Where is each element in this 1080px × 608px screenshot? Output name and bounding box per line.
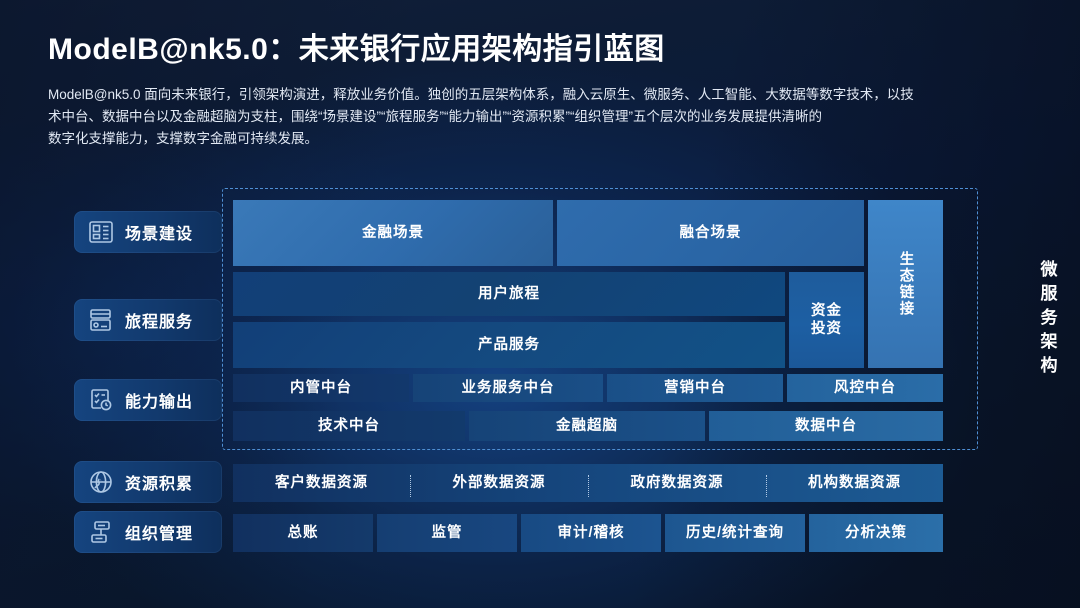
tile-tech-midplatform[interactable]: 技术中台	[233, 411, 465, 441]
sidebar-item-label: 能力输出	[125, 388, 193, 412]
tile-label: 总账	[288, 524, 319, 542]
tile-user-journey[interactable]: 用户旅程	[233, 272, 785, 316]
tile-label: 客户数据资源	[275, 474, 368, 492]
sidebar-item-label: 资源积累	[125, 470, 193, 494]
tile-label: 技术中台	[318, 417, 380, 435]
tile-label: 内管中台	[290, 379, 352, 397]
page-title: ModelB@nk5.0：未来银行应用架构指引蓝图	[48, 24, 665, 68]
intro-line-2: 术中台、数据中台以及金融超脑为支柱，围绕“场景建设”“旅程服务”“能力输出”“资…	[48, 106, 1020, 128]
card-stack-icon	[86, 305, 116, 335]
tile-label: 政府数据资源	[631, 474, 724, 492]
tile-financial-brain[interactable]: 金融超脑	[469, 411, 705, 441]
tile-audit-inspection[interactable]: 审计/稽核	[521, 514, 661, 552]
tile-marketing-midplatform[interactable]: 营销中台	[607, 374, 783, 402]
tile-label: 审计/稽核	[557, 524, 624, 542]
tile-external-data-resource[interactable]: 外部数据资源	[410, 464, 588, 502]
tile-label: 金融场景	[362, 224, 424, 242]
tile-label: 用户旅程	[478, 285, 540, 303]
tile-label: 机构数据资源	[808, 474, 901, 492]
tile-data-midplatform[interactable]: 数据中台	[709, 411, 943, 441]
tile-history-statistics-query[interactable]: 历史/统计查询	[665, 514, 805, 552]
tile-ecosystem-link[interactable]: 生态链接	[868, 200, 943, 368]
microservice-architecture-label: 微服务架构	[1032, 214, 1062, 426]
sidebar-item-label: 场景建设	[125, 220, 193, 244]
tile-label: 营销中台	[664, 379, 726, 397]
sidebar-item-label: 组织管理	[125, 520, 193, 544]
tile-financial-scene[interactable]: 金融场景	[233, 200, 553, 266]
tile-label-line1: 资金	[811, 303, 842, 319]
tile-label: 外部数据资源	[453, 474, 546, 492]
tile-label: 风控中台	[834, 379, 896, 397]
org-chart-icon	[86, 517, 116, 547]
tile-risk-midplatform[interactable]: 风控中台	[787, 374, 943, 402]
sidebar-item-capability[interactable]: 能力输出	[74, 379, 222, 421]
tile-fusion-scene[interactable]: 融合场景	[557, 200, 864, 266]
tile-government-data-resource[interactable]: 政府数据资源	[588, 464, 766, 502]
tile-label: 分析决策	[845, 524, 907, 542]
sidebar-item-scene[interactable]: 场景建设	[74, 211, 222, 253]
tile-funding-investment[interactable]: 资金 投资	[789, 272, 864, 368]
tile-label: 历史/统计查询	[686, 524, 784, 542]
tile-label: 资金 投资	[811, 302, 842, 338]
slide-canvas: ModelB@nk5.0：未来银行应用架构指引蓝图 ModelB@nk5.0 面…	[0, 0, 1080, 608]
tile-product-service[interactable]: 产品服务	[233, 322, 785, 368]
tile-regulation[interactable]: 监管	[377, 514, 517, 552]
tile-label: 生态链接	[897, 251, 915, 317]
tile-label: 融合场景	[680, 224, 742, 242]
sidebar-item-journey[interactable]: 旅程服务	[74, 299, 222, 341]
checklist-clock-icon	[86, 385, 116, 415]
tile-label-line2: 投资	[811, 321, 842, 337]
sidebar-item-label: 旅程服务	[125, 308, 193, 332]
tile-label: 数据中台	[795, 417, 857, 435]
sidebar-item-organization[interactable]: 组织管理	[74, 511, 222, 553]
tile-general-ledger[interactable]: 总账	[233, 514, 373, 552]
tile-business-service-midplatform[interactable]: 业务服务中台	[413, 374, 603, 402]
tile-label: 金融超脑	[556, 417, 618, 435]
intro-paragraph: ModelB@nk5.0 面向未来银行，引领架构演进，释放业务价值。独创的五层架…	[48, 84, 1020, 150]
tile-analysis-decision[interactable]: 分析决策	[809, 514, 943, 552]
tile-institution-data-resource[interactable]: 机构数据资源	[766, 464, 943, 502]
tile-label: 监管	[432, 524, 463, 542]
tile-label: 业务服务中台	[462, 379, 555, 397]
globe-icon	[86, 467, 116, 497]
intro-line-3: 数字化支撑能力，支撑数字金融可持续发展。	[48, 128, 1020, 150]
intro-line-1: ModelB@nk5.0 面向未来银行，引领架构演进，释放业务价值。独创的五层架…	[48, 84, 1020, 106]
resource-bar: 客户数据资源 外部数据资源 政府数据资源 机构数据资源	[233, 464, 943, 502]
tile-customer-data-resource[interactable]: 客户数据资源	[233, 464, 410, 502]
tile-internal-midplatform[interactable]: 内管中台	[233, 374, 409, 402]
sidebar-item-resource[interactable]: 资源积累	[74, 461, 222, 503]
tile-label: 产品服务	[478, 336, 540, 354]
layout-grid-icon	[86, 217, 116, 247]
